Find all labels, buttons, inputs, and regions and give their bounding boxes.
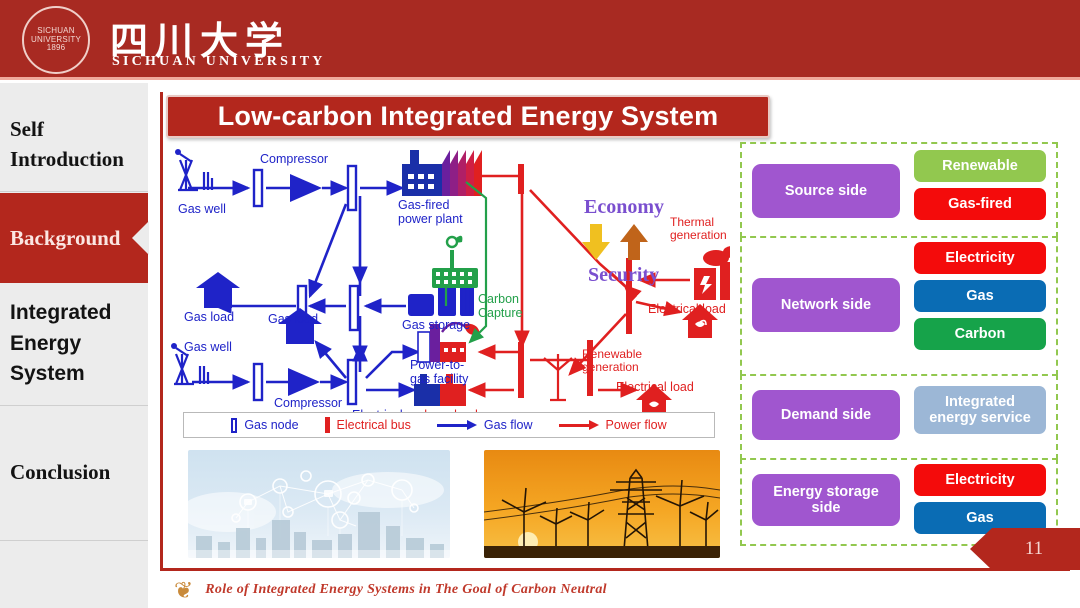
panel-section-network-side: Network side Electricity Gas Carbon [740, 236, 1058, 376]
label-electrical-load-2: Electrical load [616, 380, 694, 394]
power-flow-arrow-icon [559, 420, 599, 430]
sidebar-nav: Self Introduction Background Integrated … [0, 83, 148, 608]
legend-label: Power flow [606, 418, 667, 432]
label-gas-storage: Gas storage [402, 318, 470, 332]
legend-item-gas-node: Gas node [231, 418, 298, 433]
electrical-bus-icon [325, 417, 330, 433]
energy-roles-panel: Source side Renewable Gas-fired Network … [740, 142, 1058, 546]
bottom-accent-bar [160, 568, 1070, 571]
label-gas-load-1: Gas load [184, 310, 234, 324]
label-thermal-generation: Thermalgeneration [670, 216, 727, 243]
university-name-en: SICHUAN UNIVERSITY [112, 54, 326, 70]
sidebar-item-background[interactable]: Background [0, 193, 148, 283]
panel-section-source-side: Source side Renewable Gas-fired [740, 142, 1058, 238]
legend-label: Electrical bus [337, 418, 411, 432]
chip-network-side[interactable]: Network side [752, 278, 900, 332]
wind-turbines-transmission-tower-sunset-photo [484, 450, 720, 558]
diagram-svg [170, 146, 730, 438]
sidebar-item-label: Background [10, 223, 121, 253]
legend-item-power-flow: Power flow [559, 418, 667, 432]
chip-carbon-network[interactable]: Carbon [914, 318, 1046, 350]
sidebar-item-conclusion[interactable]: Conclusion [0, 449, 148, 495]
chip-energy-storage-side[interactable]: Energy storageside [752, 474, 900, 526]
seal-text: SICHUAN UNIVERSITY 1896 [24, 27, 88, 52]
page-title: Low-carbon Integrated Energy System [166, 95, 770, 138]
slide-header: SICHUAN UNIVERSITY 1896 四川大学 SICHUAN UNI… [0, 0, 1080, 80]
chip-gas-fired[interactable]: Gas-fired [914, 188, 1046, 220]
label-electrical-load-1: Electrical load [648, 302, 726, 316]
chip-demand-side[interactable]: Demand side [752, 390, 900, 440]
label-economy: Economy [584, 196, 664, 218]
chip-renewable[interactable]: Renewable [914, 150, 1046, 182]
label-renewable-generation: Renewablegeneration [582, 348, 642, 375]
panel-section-demand-side: Demand side Integratedenergy service [740, 374, 1058, 460]
label-gas-well-1: Gas well [178, 202, 226, 216]
footer-ornament-icon: ❦ [174, 579, 193, 602]
sidebar-item-label: Conclusion [10, 457, 110, 487]
label-gas-load-2: Gas load [268, 312, 318, 326]
sidebar-item-label-line3: System [10, 359, 85, 389]
chip-electricity-network[interactable]: Electricity [914, 242, 1046, 274]
chip-electricity-storage[interactable]: Electricity [914, 464, 1046, 496]
diagram-legend: Gas node Electrical bus Gas flow Power f… [183, 412, 715, 438]
gas-node-icon [231, 418, 237, 433]
sidebar-item-label-line2: Introduction [10, 144, 124, 174]
header-rule [0, 77, 1080, 80]
page-title-text: Low-carbon Integrated Energy System [218, 101, 719, 132]
slide-footer: ❦ Role of Integrated Energy Systems in T… [160, 572, 1080, 608]
label-compressor-2: Compressor [274, 396, 342, 410]
label-carbon-capture: CarbonCapture [478, 292, 522, 320]
label-security: Security [588, 264, 659, 286]
gas-flow-arrow-icon [437, 420, 477, 430]
left-accent-bar [160, 92, 163, 570]
footer-text: Role of Integrated Energy Systems in The… [205, 582, 607, 598]
university-seal-icon: SICHUAN UNIVERSITY 1896 [22, 6, 90, 74]
sidebar-item-integrated-energy-system[interactable]: Integrated Energy System [0, 289, 148, 399]
sidebar-item-label-line2: Energy [10, 329, 81, 359]
legend-item-gas-flow: Gas flow [437, 418, 533, 432]
sidebar-item-label: Integrated [10, 298, 112, 328]
chip-integrated-energy-service[interactable]: Integratedenergy service [914, 386, 1046, 434]
legend-item-electrical-bus: Electrical bus [325, 417, 411, 433]
page-number: 11 [1007, 538, 1043, 560]
legend-label: Gas flow [484, 418, 533, 432]
label-compressor-1: Compressor [260, 152, 328, 166]
label-gas-well-2: Gas well [184, 340, 232, 354]
chip-source-side[interactable]: Source side [752, 164, 900, 218]
slide: SICHUAN UNIVERSITY 1896 四川大学 SICHUAN UNI… [0, 0, 1080, 608]
label-power-to-gas-facility: Power-to-gas facility [410, 358, 468, 386]
label-gas-fired-power-plant: Gas-firedpower plant [398, 198, 463, 226]
legend-label: Gas node [244, 418, 298, 432]
smart-city-network-photo [188, 450, 450, 558]
sidebar-item-label: Self [10, 114, 44, 144]
sidebar-item-self-introduction[interactable]: Self Introduction [0, 101, 148, 187]
chip-gas-network[interactable]: Gas [914, 280, 1046, 312]
energy-system-diagram: Gas well Compressor Gas-firedpower plant… [170, 146, 730, 438]
page-number-badge: 11 [970, 528, 1080, 570]
